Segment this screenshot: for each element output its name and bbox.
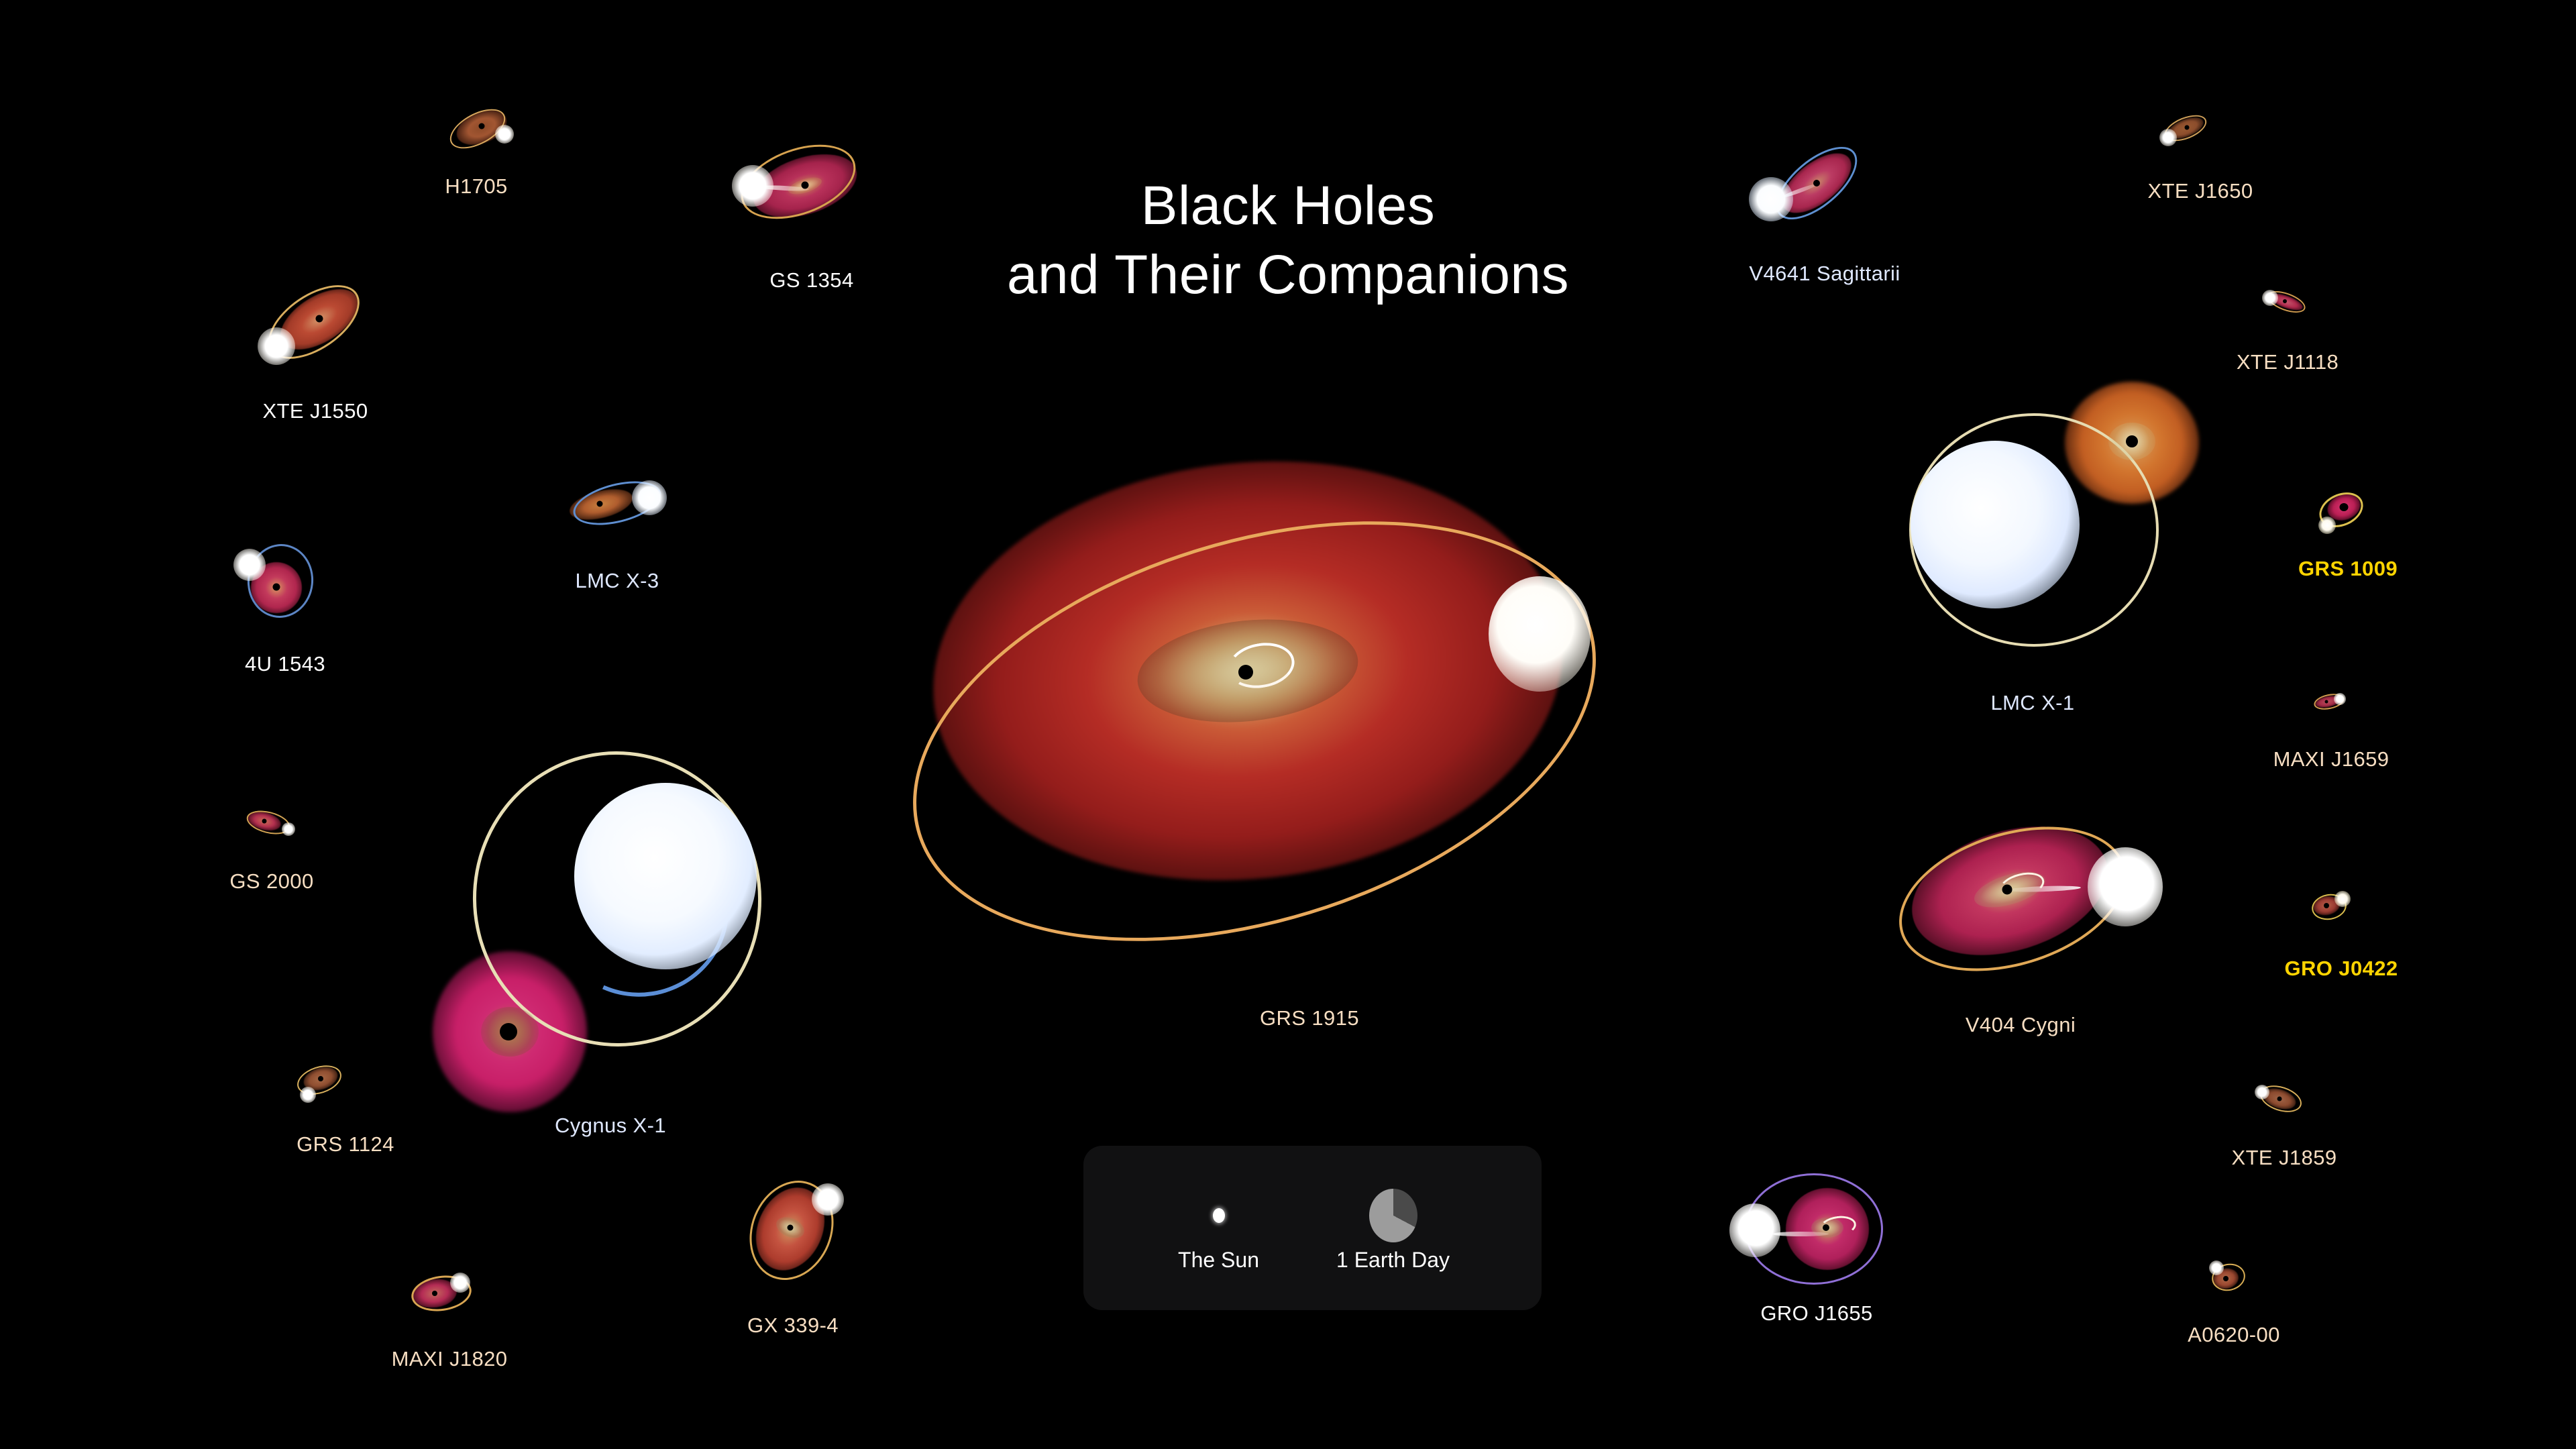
system-gro-j0422[interactable]: GRO J0422: [2261, 872, 2422, 993]
black-hole-core: [316, 315, 323, 323]
black-hole-gallery-canvas: Black Holes and Their Companions H1705 G…: [0, 0, 2576, 1449]
companion-star: [2209, 1260, 2224, 1275]
system-cygnus-x-1[interactable]: Cygnus X-1: [416, 724, 872, 1147]
companion-star: [1489, 576, 1591, 692]
black-hole-core: [500, 1023, 517, 1040]
black-hole-core: [2324, 903, 2329, 908]
black-hole-core: [262, 819, 267, 824]
companion-star: [812, 1183, 844, 1216]
companion-star: [2318, 517, 2336, 534]
system-maxi-j1820[interactable]: MAXI J1820: [356, 1261, 543, 1395]
system-label: GS 2000: [229, 869, 313, 894]
system-lmc-x-3[interactable]: LMC X-3: [523, 463, 711, 604]
system-label: XTE J1550: [263, 399, 368, 423]
system-4u-1543[interactable]: 4U 1543: [195, 530, 376, 684]
system-gs-2000[interactable]: GS 2000: [195, 792, 349, 906]
system-label: GRO J0422: [2284, 957, 2398, 981]
companion-star: [258, 327, 295, 365]
system-label: GS 1354: [769, 268, 853, 292]
system-label: GX 339-4: [747, 1313, 839, 1338]
companion-star: [282, 822, 295, 836]
black-hole-core: [2126, 435, 2138, 447]
system-label: V404 Cygni: [1966, 1013, 2076, 1037]
companion-star: [300, 1087, 316, 1103]
black-hole-core: [318, 1076, 323, 1081]
companion-star: [450, 1273, 470, 1293]
system-v4641-sagittarii[interactable]: V4641 Sagittarii: [1717, 144, 1932, 299]
clock-icon-box: [1369, 1183, 1417, 1248]
companion-star: [632, 480, 667, 515]
companion-star: [2262, 290, 2278, 306]
system-h1705[interactable]: H1705: [402, 80, 550, 195]
system-v404-cygni[interactable]: V404 Cygni: [1878, 812, 2200, 1053]
system-label: GRO J1655: [1760, 1301, 1872, 1326]
system-label: A0620-00: [2188, 1323, 2280, 1347]
system-label: XTE J1650: [2148, 179, 2253, 203]
system-label: MAXI J1659: [2273, 747, 2390, 771]
companion-star: [732, 165, 773, 207]
system-a0620-00[interactable]: A0620-00: [2153, 1241, 2314, 1362]
system-label: H1705: [445, 174, 507, 199]
system-label: V4641 Sagittarii: [1749, 262, 1900, 286]
companion-star: [2088, 847, 2163, 926]
companion-star: [495, 125, 514, 144]
black-hole-core: [432, 1291, 437, 1296]
system-grs-1915[interactable]: GRS 1915: [818, 490, 1784, 1046]
system-label: XTE J1859: [2232, 1146, 2337, 1170]
system-xte-j1650[interactable]: XTE J1650: [2127, 104, 2274, 211]
system-xte-j1550[interactable]: XTE J1550: [221, 282, 409, 429]
system-label: LMC X-1: [1990, 691, 2074, 715]
black-hole-core: [479, 123, 485, 129]
black-hole-core: [1813, 180, 1820, 186]
system-xte-j1118[interactable]: XTE J1118: [2214, 275, 2361, 382]
black-hole-core: [2283, 299, 2287, 303]
legend-item-one-earth-day: 1 Earth Day: [1299, 1183, 1487, 1273]
system-label: 4U 1543: [245, 652, 325, 676]
black-hole-core: [788, 1225, 794, 1231]
companion-star: [233, 549, 266, 581]
system-label: MAXI J1820: [392, 1347, 508, 1371]
legend-item-the-sun: The Sun: [1138, 1183, 1299, 1273]
companion-star: [1749, 177, 1793, 221]
clock-pie-icon: [1369, 1189, 1417, 1242]
companion-star: [2334, 891, 2351, 907]
black-hole-core: [2277, 1097, 2282, 1102]
system-label: XTE J1118: [2237, 350, 2339, 374]
black-hole-core: [597, 501, 603, 507]
system-label: GRS 1915: [1260, 1006, 1359, 1030]
system-grs-1124[interactable]: GRS 1124: [262, 1053, 429, 1174]
mass-transfer-stream: [1772, 1232, 1829, 1236]
system-lmc-x-1[interactable]: LMC X-1: [1851, 402, 2227, 738]
companion-star: [2255, 1085, 2269, 1099]
system-gro-j1655[interactable]: GRO J1655: [1697, 1167, 1939, 1342]
system-xte-j1859[interactable]: XTE J1859: [2207, 1067, 2361, 1187]
black-hole-core: [2325, 700, 2328, 704]
companion-star: [1729, 1203, 1780, 1257]
system-maxi-j1659[interactable]: MAXI J1659: [2254, 678, 2408, 785]
companion-star: [1911, 441, 2080, 608]
system-label: Cygnus X-1: [555, 1114, 666, 1138]
companion-star: [574, 783, 757, 969]
system-grs-1009[interactable]: GRS 1009: [2274, 476, 2422, 597]
black-hole-core: [2223, 1276, 2229, 1281]
black-hole-core: [2185, 125, 2190, 130]
companion-star: [2334, 693, 2346, 705]
legend-label-earth-day: 1 Earth Day: [1336, 1248, 1450, 1273]
system-label: GRS 1009: [2298, 557, 2398, 581]
system-label: LMC X-3: [575, 569, 659, 593]
black-hole-core: [273, 584, 280, 591]
sun-dot-icon: [1213, 1208, 1225, 1223]
legend-label-sun: The Sun: [1178, 1248, 1259, 1273]
scale-legend-panel: The Sun 1 Earth Day: [1083, 1146, 1542, 1310]
system-gs-1354[interactable]: GS 1354: [711, 144, 912, 299]
sun-icon-box: [1213, 1183, 1225, 1248]
black-hole-core: [2340, 503, 2349, 511]
system-gx-339-4[interactable]: GX 339-4: [691, 1181, 906, 1348]
system-label: GRS 1124: [297, 1132, 394, 1157]
companion-star: [2159, 129, 2177, 146]
black-hole-core: [802, 182, 809, 189]
